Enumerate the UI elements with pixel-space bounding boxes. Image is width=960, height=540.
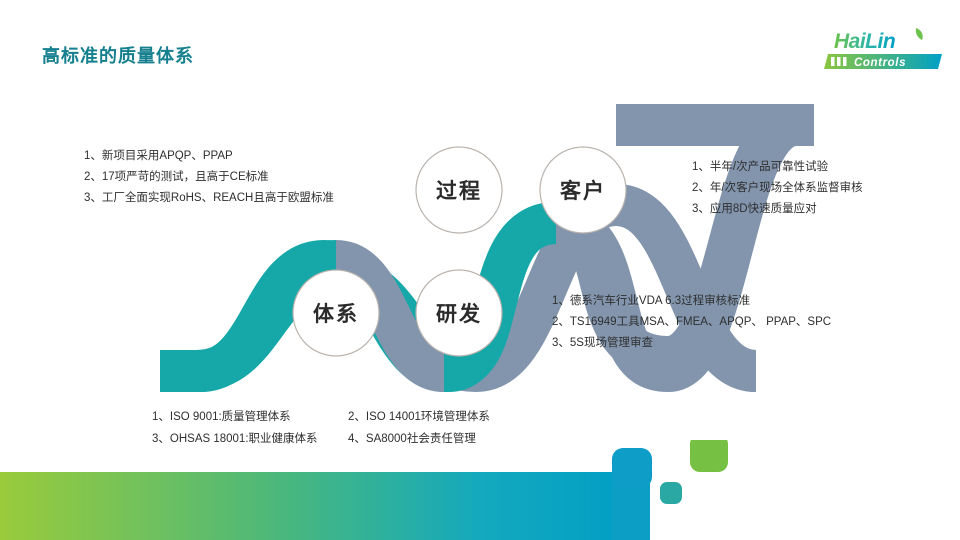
- slide-canvas: 高标准的质量体系 HaiLin: [0, 0, 960, 540]
- list-item: 3、工厂全面实现RoHS、REACH且高于欧盟标准: [84, 188, 334, 209]
- process-detail-list: 1、新项目采用APQP、PPAP 2、17项严苛的测试，且高于CE标准 3、工厂…: [84, 146, 334, 209]
- list-item: 2、ISO 14001环境管理体系: [348, 406, 538, 428]
- quality-system-diagram: 体系 研发 过程 客户: [0, 95, 960, 405]
- list-item: 1、半年/次产品可靠性试验: [692, 157, 863, 178]
- rd-detail-list: 1、德系汽车行业VDA 6.3过程审核标准 2、TS16949工具MSA、FME…: [552, 291, 831, 354]
- list-row: 1、ISO 9001:质量管理体系 2、ISO 14001环境管理体系: [152, 406, 538, 428]
- list-item: 2、17项严苛的测试，且高于CE标准: [84, 167, 334, 188]
- list-item: 1、新项目采用APQP、PPAP: [84, 146, 334, 167]
- list-item: 2、年/次客户现场全体系监督审核: [692, 178, 863, 199]
- list-item: 2、TS16949工具MSA、FMEA、APQP、 PPAP、SPC: [552, 312, 831, 333]
- svg-text:HaiLin: HaiLin: [834, 30, 895, 53]
- hailin-logo: HaiLin Controls: [812, 26, 946, 72]
- customer-detail-list: 1、半年/次产品可靠性试验 2、年/次客户现场全体系监督审核 3、应用8D快速质…: [692, 157, 863, 220]
- list-item: 1、德系汽车行业VDA 6.3过程审核标准: [552, 291, 831, 312]
- list-item: 1、ISO 9001:质量管理体系: [152, 406, 348, 428]
- page-title: 高标准的质量体系: [42, 42, 194, 68]
- list-item: 3、5S现场管理审查: [552, 333, 831, 354]
- footer-decoration: [0, 440, 960, 540]
- svg-text:Controls: Controls: [854, 57, 906, 69]
- list-item: 3、应用8D快速质量应对: [692, 199, 863, 220]
